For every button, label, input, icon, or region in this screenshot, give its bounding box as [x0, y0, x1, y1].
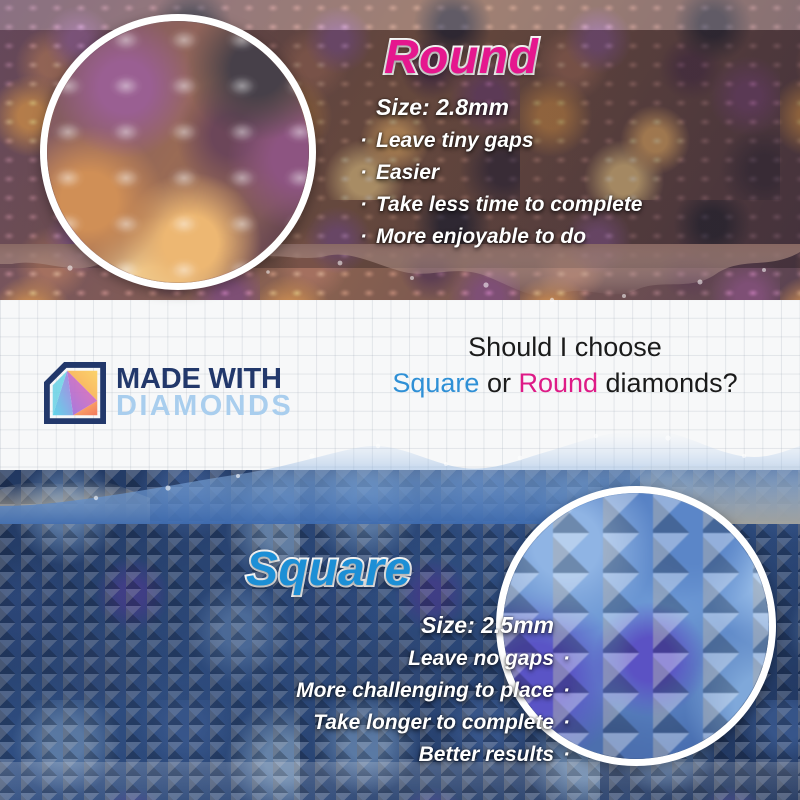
round-list-item: ·Take less time to complete: [360, 189, 643, 221]
square-list-item-label: Better results: [419, 743, 554, 766]
square-list-item: Size: 2.5mm·: [296, 608, 570, 643]
square-list-item-label: Take longer to complete: [313, 711, 554, 734]
question-line-1: Should I choose: [330, 330, 800, 366]
question-word-tail: diamonds?: [598, 368, 738, 398]
round-list-item-label: Size: 2.8mm: [376, 94, 509, 120]
square-list-item: More challenging to place·: [296, 675, 570, 707]
square-list-item-label: More challenging to place: [296, 679, 554, 702]
bullet-dot-icon: ·: [360, 157, 376, 189]
square-list-item: Leave no gaps·: [296, 643, 570, 675]
round-diamonds-magnifier: [40, 14, 316, 290]
brand-logo: MADE WITH DIAMONDS: [44, 362, 293, 424]
brand-line-made-with: MADE WITH: [116, 366, 293, 393]
question-line-2: Square or Round diamonds?: [330, 366, 800, 402]
bullet-dot-icon: ·: [554, 643, 570, 675]
square-list-item-label: Leave no gaps: [408, 647, 554, 670]
brand-line-diamonds: DIAMONDS: [116, 393, 293, 420]
round-list-item-label: Take less time to complete: [376, 193, 643, 216]
question-word-round: Round: [518, 368, 598, 398]
question-word-or: or: [479, 368, 518, 398]
bullet-dot-icon: ·: [360, 189, 376, 221]
bullet-dot-icon: ·: [554, 675, 570, 707]
square-list-item-label: Size: 2.5mm: [421, 612, 554, 638]
round-list-item: ·Size: 2.8mm: [360, 90, 643, 125]
question-word-square: Square: [392, 368, 479, 398]
infographic-poster: Round ·Size: 2.8mm ·Leave tiny gaps ·Eas…: [0, 0, 800, 800]
round-list-item: ·Easier: [360, 157, 643, 189]
headline-question: Should I choose Square or Round diamonds…: [330, 330, 800, 402]
round-title: Round: [384, 34, 538, 82]
bullet-dot-icon: ·: [360, 125, 376, 157]
round-feature-list: ·Size: 2.8mm ·Leave tiny gaps ·Easier ·T…: [360, 90, 643, 253]
round-magnifier-texture: [47, 21, 309, 283]
round-list-item: ·Leave tiny gaps: [360, 125, 643, 157]
bullet-dot-icon: ·: [554, 707, 570, 739]
square-title: Square: [246, 546, 412, 594]
round-list-item-label: Easier: [376, 161, 439, 184]
round-list-item: ·More enjoyable to do: [360, 221, 643, 253]
square-feature-list: Size: 2.5mm· Leave no gaps· More challen…: [296, 608, 570, 771]
diamond-gem-logo-icon: [44, 362, 106, 424]
square-list-item: Better results·: [296, 739, 570, 771]
round-list-item-label: Leave tiny gaps: [376, 129, 534, 152]
bullet-dot-icon: ·: [360, 221, 376, 253]
square-list-item: Take longer to complete·: [296, 707, 570, 739]
brand-wordmark: MADE WITH DIAMONDS: [116, 366, 293, 419]
bullet-dot-icon: ·: [554, 739, 570, 771]
round-list-item-label: More enjoyable to do: [376, 225, 586, 248]
